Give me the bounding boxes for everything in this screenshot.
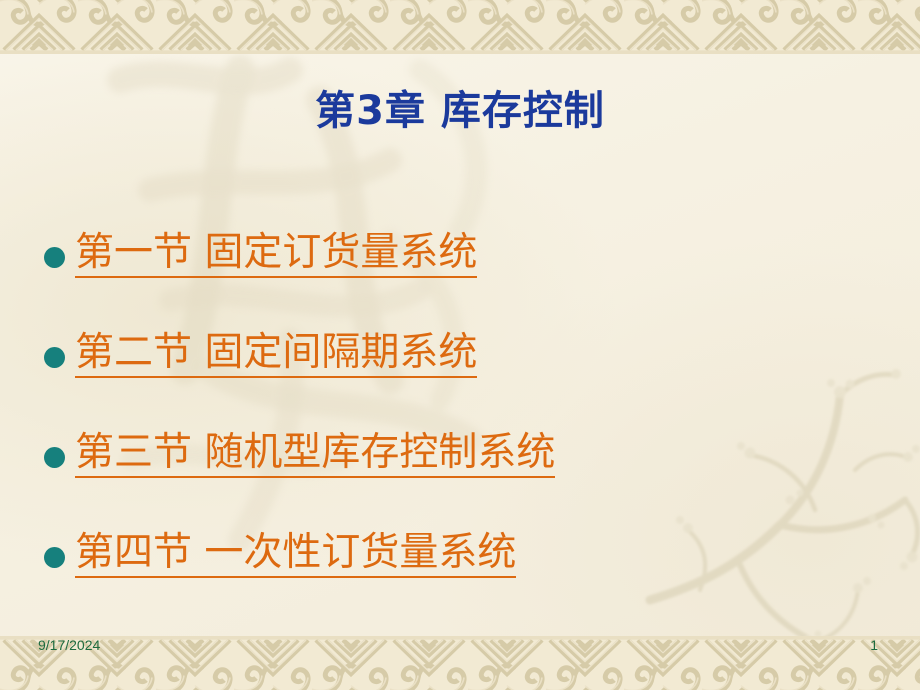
slide-canvas: 第3章 库存控制 第一节 固定订货量系统 第二节 固定间隔期系统 第三节 随机型… bbox=[0, 0, 920, 690]
list-item[interactable]: 第三节 随机型库存控制系统 bbox=[44, 405, 890, 505]
section-link-2[interactable]: 第二节 固定间隔期系统 bbox=[75, 333, 477, 378]
bottom-decorative-border bbox=[0, 636, 920, 690]
list-item[interactable]: 第一节 固定订货量系统 bbox=[44, 205, 890, 305]
page-title: 第3章 库存控制 bbox=[0, 88, 920, 134]
bullet-dot-icon bbox=[44, 547, 65, 568]
section-list: 第一节 固定订货量系统 第二节 固定间隔期系统 第三节 随机型库存控制系统 第四… bbox=[44, 205, 890, 605]
section-link-4[interactable]: 第四节 一次性订货量系统 bbox=[75, 533, 516, 578]
bullet-dot-icon bbox=[44, 347, 65, 368]
section-link-3[interactable]: 第三节 随机型库存控制系统 bbox=[75, 433, 555, 478]
top-decorative-border bbox=[0, 0, 920, 54]
bullet-dot-icon bbox=[44, 247, 65, 268]
footer-date: 9/17/2024 bbox=[38, 637, 100, 653]
bullet-dot-icon bbox=[44, 447, 65, 468]
list-item[interactable]: 第二节 固定间隔期系统 bbox=[44, 305, 890, 405]
footer-page-number: 1 bbox=[870, 637, 878, 653]
list-item[interactable]: 第四节 一次性订货量系统 bbox=[44, 505, 890, 605]
section-link-1[interactable]: 第一节 固定订货量系统 bbox=[75, 233, 477, 278]
